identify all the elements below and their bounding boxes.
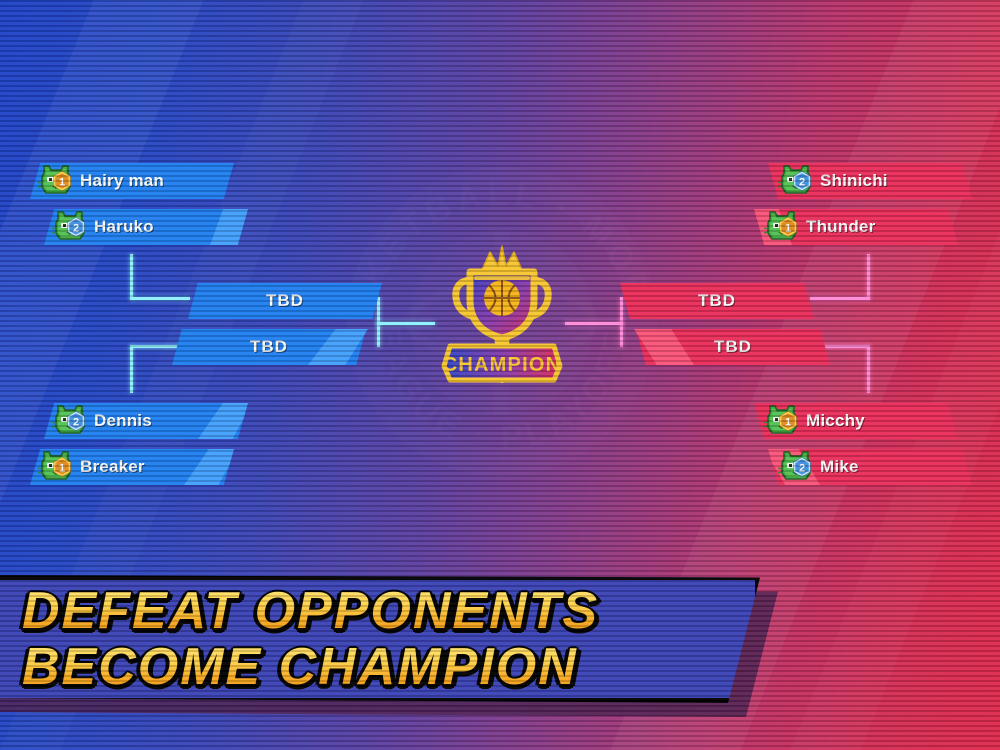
semifinal-label: TBD	[714, 337, 752, 357]
entry-name: Thunder	[806, 217, 875, 237]
svg-text:2: 2	[799, 463, 805, 475]
tournament-bracket-screen: BASKETBALL · MOBILE LEAGUE · PLAYOFFS	[0, 0, 1000, 750]
trophy-label: CHAMPION	[443, 354, 562, 376]
cat-avatar: 2	[778, 163, 820, 199]
cat-avatar-icon: 2	[778, 449, 820, 485]
connector-left-merge-lower	[377, 322, 380, 347]
svg-text:1: 1	[59, 463, 65, 475]
connector-right-top-vertical	[867, 254, 870, 300]
connector-left-to-trophy	[377, 322, 435, 325]
entry-name: Haruko	[94, 217, 154, 237]
semifinal-label: TBD	[266, 291, 304, 311]
champion-trophy-emblem: CHAMPION	[432, 238, 572, 383]
cat-avatar: 1	[38, 449, 80, 485]
cat-avatar-icon: 1	[38, 163, 80, 199]
connector-left-bottom-vertical	[130, 345, 133, 393]
semifinal-slot-left-top[interactable]: TBD	[188, 283, 382, 319]
connector-right-to-trophy	[565, 322, 623, 325]
bracket-entry-dennis[interactable]: 2 Dennis	[44, 403, 248, 439]
banner-line-1: DEFEAT OPPONENTS	[22, 583, 599, 639]
semifinal-slot-left-bottom[interactable]: TBD	[172, 329, 366, 365]
cat-avatar-icon: 1	[764, 403, 806, 439]
svg-text:2: 2	[73, 223, 79, 235]
semifinal-label: TBD	[698, 291, 736, 311]
semifinal-label: TBD	[250, 337, 288, 357]
svg-text:1: 1	[785, 223, 791, 235]
cat-avatar-icon: 1	[764, 209, 806, 245]
entry-name: Hairy man	[80, 171, 164, 191]
cat-avatar-icon: 2	[52, 209, 94, 245]
connector-right-bottom-vertical	[867, 345, 870, 393]
cat-avatar-icon: 2	[778, 163, 820, 199]
bracket-entry-mike[interactable]: 2 Mike	[768, 449, 972, 485]
svg-text:2: 2	[799, 177, 805, 189]
cat-avatar: 2	[52, 209, 94, 245]
bg-streak	[770, 0, 1000, 750]
svg-text:1: 1	[785, 417, 791, 429]
connector-left-top-horizontal	[130, 297, 190, 300]
connector-right-top-horizontal	[810, 297, 870, 300]
bracket-entry-thunder[interactable]: 1 Thunder	[754, 209, 958, 245]
entry-name: Micchy	[806, 411, 865, 431]
entry-name: Mike	[820, 457, 859, 477]
cat-avatar: 1	[38, 163, 80, 199]
svg-text:2: 2	[73, 417, 79, 429]
cat-avatar: 1	[764, 209, 806, 245]
connector-right-merge-lower	[620, 322, 623, 347]
bracket-entry-micchy[interactable]: 1 Micchy	[754, 403, 958, 439]
bracket-entry-shinichi[interactable]: 2 Shinichi	[768, 163, 972, 199]
semifinal-slot-right-bottom[interactable]: TBD	[636, 329, 830, 365]
banner-line-2: BECOME CHAMPION	[22, 639, 599, 695]
banner-text-group: DEFEAT OPPONENTS BECOME CHAMPION	[22, 583, 599, 695]
cat-avatar-icon: 1	[38, 449, 80, 485]
entry-name: Dennis	[94, 411, 152, 431]
entry-name: Breaker	[80, 457, 145, 477]
entry-name: Shinichi	[820, 171, 888, 191]
cat-avatar: 2	[52, 403, 94, 439]
cat-avatar-icon: 2	[52, 403, 94, 439]
svg-text:1: 1	[59, 177, 65, 189]
bottom-banner: DEFEAT OPPONENTS BECOME CHAMPION	[0, 575, 790, 725]
bracket-entry-hairy-man[interactable]: 1 Hairy man	[30, 163, 234, 199]
connector-left-top-vertical	[130, 254, 133, 300]
semifinal-slot-right-top[interactable]: TBD	[620, 283, 814, 319]
cat-avatar: 1	[764, 403, 806, 439]
bracket-entry-haruko[interactable]: 2 Haruko	[44, 209, 248, 245]
cat-avatar: 2	[778, 449, 820, 485]
bracket-entry-breaker[interactable]: 1 Breaker	[30, 449, 234, 485]
